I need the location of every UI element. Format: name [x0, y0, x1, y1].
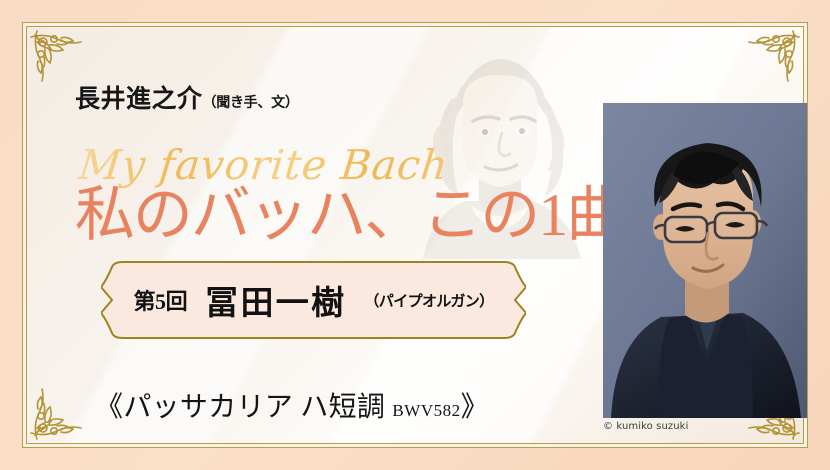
photo-credit: © kumiko suzuki: [603, 421, 688, 432]
banner-card: 長井進之介（聞き手、文） My favorite Bach 私のバッハ、この1曲…: [22, 22, 808, 448]
performer-name: 冨田一樹: [205, 276, 346, 324]
performer-portrait-photo: [603, 103, 808, 418]
work-title-main: 《パッサカリア ハ短調: [95, 392, 392, 423]
filigree-corner-ornament-top-right: [741, 27, 803, 89]
work-catalog-number: BWV582: [392, 401, 460, 420]
series-main-title: 私のバッハ、この1曲: [75, 185, 624, 245]
work-title-closing: 》: [461, 392, 489, 423]
episode-brace-panel: 第5回 冨田一樹 （パイプオルガン）: [101, 259, 526, 341]
author-byline: 長井進之介（聞き手、文）: [75, 79, 299, 115]
performer-instrument: （パイプオルガン）: [364, 290, 493, 311]
banner-root: 長井進之介（聞き手、文） My favorite Bach 私のバッハ、この1曲…: [0, 0, 830, 470]
author-role: （聞き手、文）: [203, 96, 299, 111]
episode-number: 第5回: [133, 284, 187, 316]
work-title: 《パッサカリア ハ短調 BWV582》: [23, 385, 561, 425]
author-name: 長井進之介: [75, 86, 203, 113]
